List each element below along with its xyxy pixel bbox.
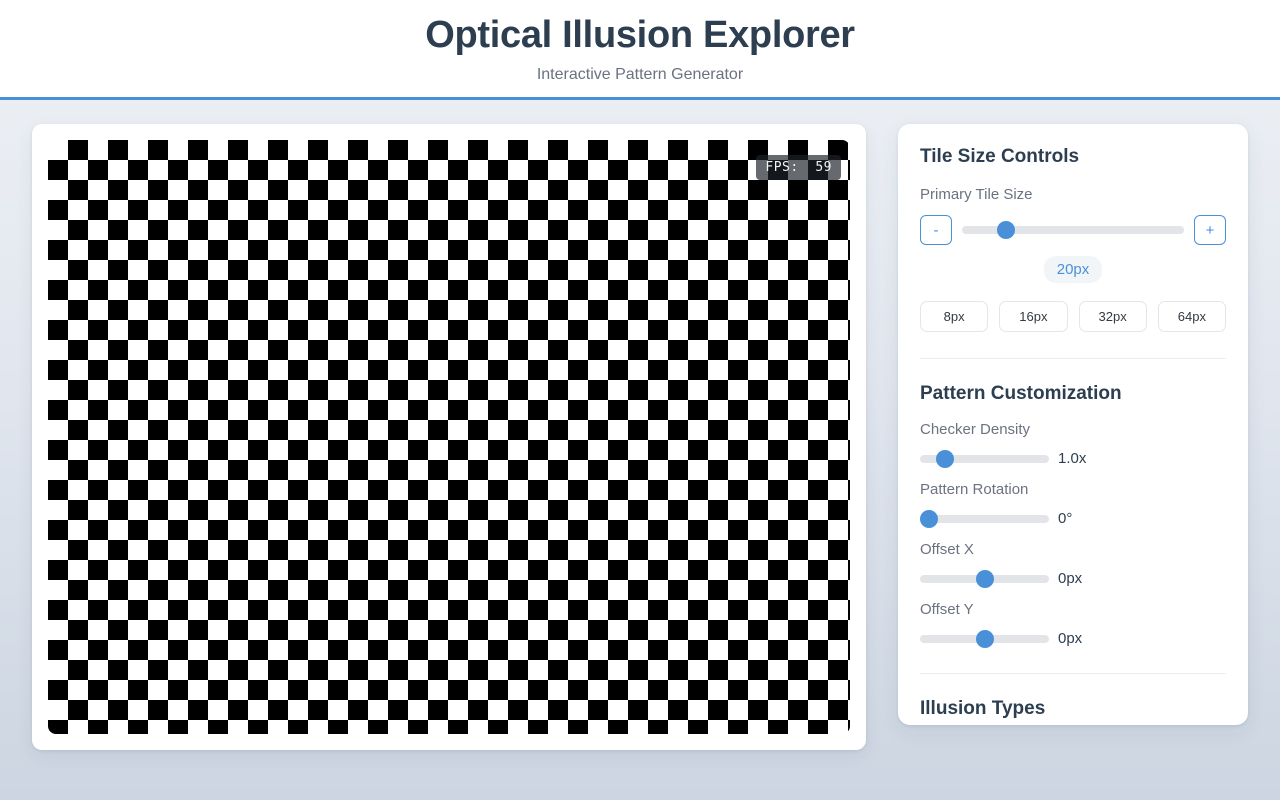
- fps-badge: FPS: 59: [756, 155, 841, 180]
- checker-density-label: Checker Density: [920, 421, 1226, 438]
- offset-x-row: 0px: [920, 570, 1226, 587]
- app-body: FPS: 59 Tile Size Controls Primary Tile …: [0, 100, 1280, 797]
- offset-y-label: Offset Y: [920, 601, 1226, 618]
- tile-size-stepper-row: - +: [920, 215, 1226, 245]
- preset-16px-button[interactable]: 16px: [999, 301, 1067, 332]
- increment-tile-size-button[interactable]: +: [1194, 215, 1226, 245]
- pattern-rotation-field: Pattern Rotation 0°: [920, 481, 1226, 527]
- preset-64px-button[interactable]: 64px: [1158, 301, 1226, 332]
- tile-size-value-wrap: 20px: [920, 256, 1226, 283]
- offset-x-value: 0px: [1058, 570, 1082, 587]
- pattern-rotation-slider[interactable]: [920, 515, 1049, 523]
- panel-divider-2: [920, 673, 1226, 674]
- pattern-rotation-value: 0°: [1058, 510, 1072, 527]
- offset-y-value: 0px: [1058, 630, 1082, 647]
- tile-size-section-title: Tile Size Controls: [920, 146, 1226, 168]
- pattern-canvas-card: FPS: 59: [32, 124, 866, 750]
- offset-y-row: 0px: [920, 630, 1226, 647]
- preset-8px-button[interactable]: 8px: [920, 301, 988, 332]
- offset-x-label: Offset X: [920, 541, 1226, 558]
- preset-32px-button[interactable]: 32px: [1079, 301, 1147, 332]
- checker-density-field: Checker Density 1.0x: [920, 421, 1226, 467]
- page-title: Optical Illusion Explorer: [0, 14, 1280, 56]
- primary-tile-size-slider[interactable]: [962, 226, 1184, 234]
- panel-divider-1: [920, 358, 1226, 359]
- decrement-tile-size-button[interactable]: -: [920, 215, 952, 245]
- page-subtitle: Interactive Pattern Generator: [0, 66, 1280, 84]
- pattern-rotation-label: Pattern Rotation: [920, 481, 1226, 498]
- tile-size-preset-row: 8px 16px 32px 64px: [920, 301, 1226, 332]
- offset-y-field: Offset Y 0px: [920, 601, 1226, 647]
- pattern-canvas[interactable]: FPS: 59: [48, 140, 850, 734]
- app-header: Optical Illusion Explorer Interactive Pa…: [0, 0, 1280, 100]
- offset-x-slider[interactable]: [920, 575, 1049, 583]
- checker-density-value: 1.0x: [1058, 450, 1086, 467]
- primary-tile-size-label: Primary Tile Size: [920, 186, 1226, 203]
- control-panel: Tile Size Controls Primary Tile Size - +…: [898, 124, 1248, 725]
- pattern-rotation-row: 0°: [920, 510, 1226, 527]
- illusion-types-section-title: Illusion Types: [920, 698, 1226, 720]
- checker-density-slider[interactable]: [920, 455, 1049, 463]
- pattern-customization-section-title: Pattern Customization: [920, 383, 1226, 405]
- offset-y-slider[interactable]: [920, 635, 1049, 643]
- checker-density-row: 1.0x: [920, 450, 1226, 467]
- offset-x-field: Offset X 0px: [920, 541, 1226, 587]
- tile-size-value-badge: 20px: [1044, 256, 1103, 283]
